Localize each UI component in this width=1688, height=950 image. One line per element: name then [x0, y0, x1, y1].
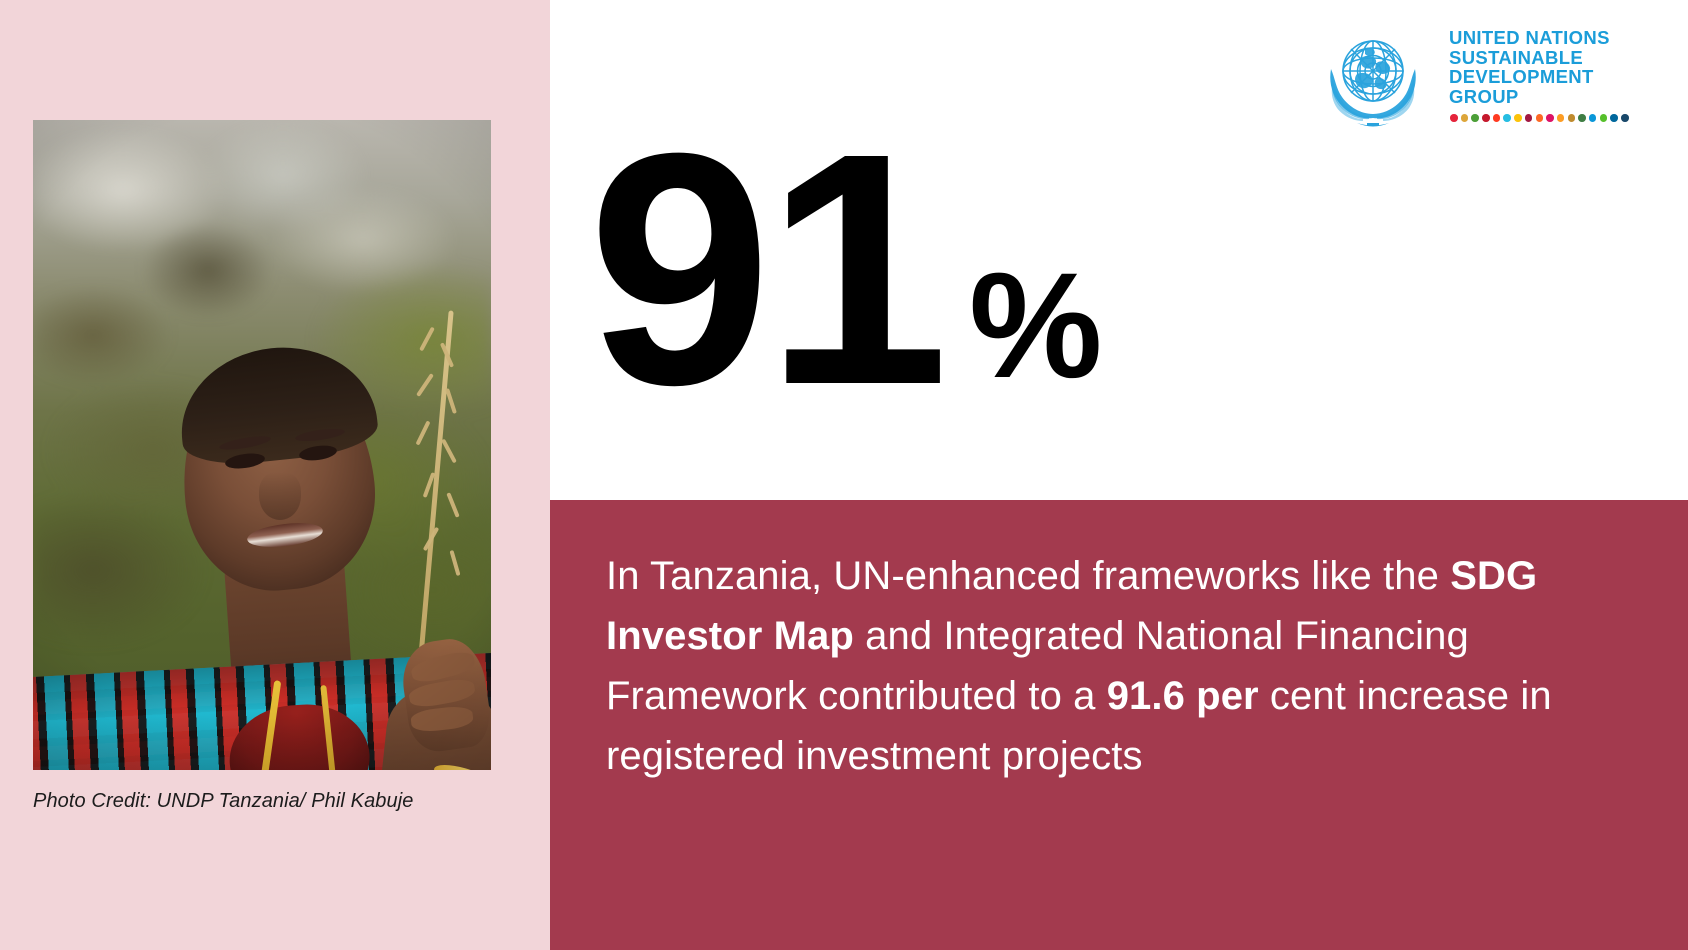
sdg-dot-6	[1503, 114, 1511, 122]
description-text: In Tanzania, UN-enhanced frameworks like…	[606, 546, 1606, 786]
un-emblem-icon	[1317, 22, 1429, 134]
sdg-dot-3	[1471, 114, 1479, 122]
sdg-dot-2	[1461, 114, 1469, 122]
description-part-1: In Tanzania, UN-enhanced frameworks like…	[606, 554, 1450, 598]
sdg-dot-12	[1568, 114, 1576, 122]
sdg-dot-7	[1514, 114, 1522, 122]
sdg-dot-5	[1493, 114, 1501, 122]
sdg-dot-4	[1482, 114, 1490, 122]
sdg-dot-15	[1600, 114, 1608, 122]
description-panel: In Tanzania, UN-enhanced frameworks like…	[550, 500, 1688, 950]
sdg-dot-8	[1525, 114, 1533, 122]
description-highlight-figure: 91.6 per	[1107, 674, 1259, 718]
sdg-color-dots	[1450, 114, 1629, 122]
sdg-dot-14	[1589, 114, 1597, 122]
sdg-dot-10	[1546, 114, 1554, 122]
percent-sign: %	[969, 250, 1102, 400]
sdg-dot-17	[1621, 114, 1629, 122]
feature-photo	[33, 120, 491, 770]
logo-line-3: DEVELOPMENT	[1449, 67, 1610, 87]
sdg-dot-11	[1557, 114, 1565, 122]
stat-number: 91	[588, 140, 943, 397]
sdg-dot-1	[1450, 114, 1458, 122]
logo-line-4: GROUP	[1449, 87, 1610, 107]
sdg-dot-9	[1536, 114, 1544, 122]
headline-statistic: 91 %	[588, 140, 1102, 400]
logo-line-1: UNITED NATIONS	[1449, 28, 1610, 48]
logo-line-2: SUSTAINABLE	[1449, 48, 1610, 68]
sdg-dot-16	[1610, 114, 1618, 122]
photo-credit-caption: Photo Credit: UNDP Tanzania/ Phil Kabuje	[33, 790, 414, 813]
left-panel: Photo Credit: UNDP Tanzania/ Phil Kabuje	[0, 0, 550, 950]
photo-vignette	[33, 120, 491, 770]
sdg-dot-13	[1578, 114, 1586, 122]
logo-wordmark: UNITED NATIONS SUSTAINABLE DEVELOPMENT G…	[1449, 28, 1610, 106]
unsdg-logo: UNITED NATIONS SUSTAINABLE DEVELOPMENT G…	[1317, 22, 1647, 134]
